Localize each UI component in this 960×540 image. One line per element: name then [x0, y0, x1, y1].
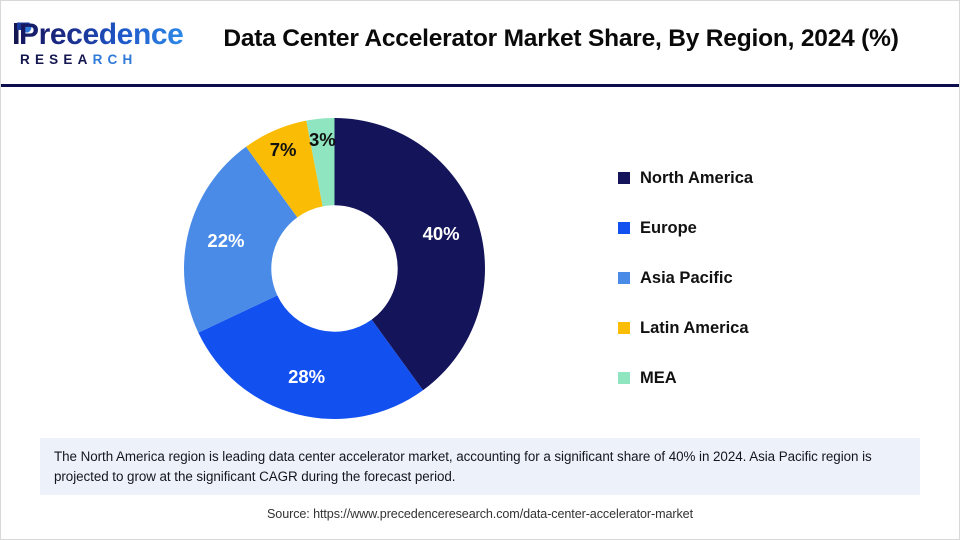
description-text: The North America region is leading data…: [54, 447, 906, 487]
source-line: Source: https://www.precedenceresearch.c…: [1, 507, 959, 521]
legend-item-label: Asia Pacific: [640, 269, 733, 288]
legend-swatch-icon: [618, 322, 630, 334]
chart-infographic-frame: Precedence RESEARCH Data Center Accelera…: [0, 0, 960, 540]
legend-item-label: North America: [640, 169, 753, 188]
legend: North AmericaEuropeAsia PacificLatin Ame…: [618, 153, 918, 403]
description-box: The North America region is leading data…: [40, 438, 920, 495]
donut-svg: [184, 118, 485, 419]
donut-slice-label: 7%: [270, 139, 297, 161]
logo-subtext: RESEARCH: [20, 52, 137, 67]
legend-item[interactable]: Europe: [618, 203, 918, 253]
donut-slice-label: 3%: [309, 129, 336, 151]
chart-area: 40%28%22%7%3% North AmericaEuropeAsia Pa…: [1, 87, 959, 437]
header: Precedence RESEARCH Data Center Accelera…: [1, 1, 959, 84]
legend-item-label: MEA: [640, 369, 677, 388]
legend-item[interactable]: MEA: [618, 353, 918, 403]
legend-item[interactable]: North America: [618, 153, 918, 203]
legend-item[interactable]: Latin America: [618, 303, 918, 353]
page-title: Data Center Accelerator Market Share, By…: [201, 25, 921, 53]
donut-slice-label: 40%: [423, 223, 460, 245]
precedence-research-logo: Precedence RESEARCH: [13, 19, 163, 69]
legend-item[interactable]: Asia Pacific: [618, 253, 918, 303]
legend-swatch-icon: [618, 372, 630, 384]
legend-item-label: Europe: [640, 219, 697, 238]
logo-wordmark: Precedence: [19, 19, 183, 51]
donut-slice-group: [184, 118, 485, 419]
donut-chart: 40%28%22%7%3%: [184, 118, 485, 419]
legend-swatch-icon: [618, 272, 630, 284]
legend-swatch-icon: [618, 222, 630, 234]
donut-slice-label: 28%: [288, 366, 325, 388]
donut-slice-label: 22%: [207, 230, 244, 252]
legend-swatch-icon: [618, 172, 630, 184]
legend-item-label: Latin America: [640, 319, 749, 338]
